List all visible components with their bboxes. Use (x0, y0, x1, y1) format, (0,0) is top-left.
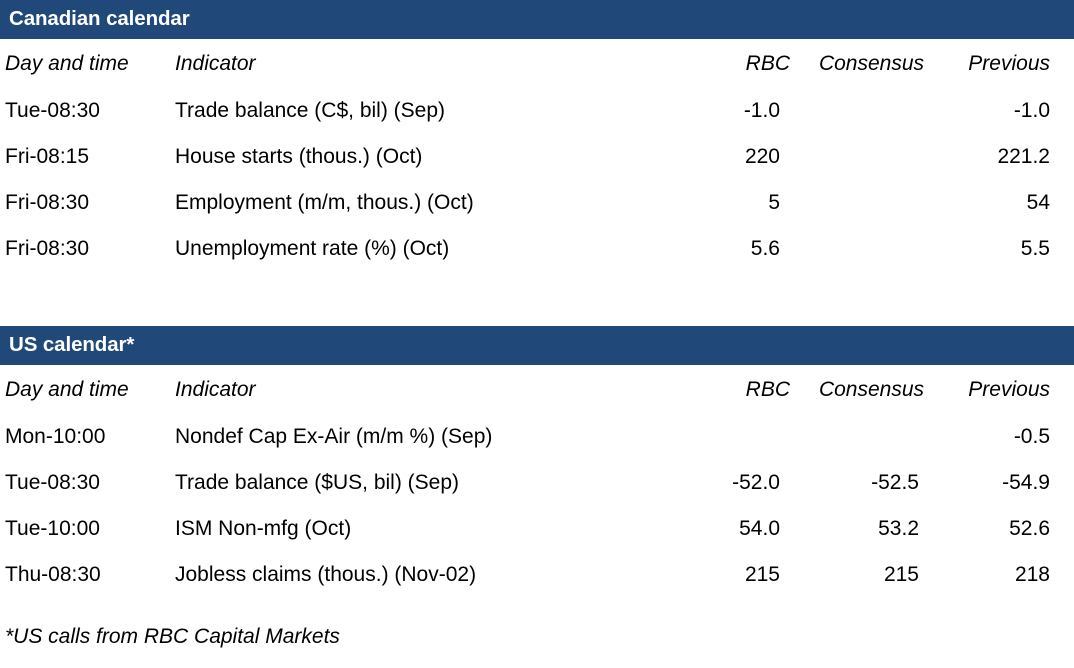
cell-consensus (815, 133, 949, 179)
cell-consensus: 53.2 (815, 505, 949, 551)
table-row: Tue-08:30 Trade balance ($US, bil) (Sep)… (0, 459, 1074, 505)
table-row: Thu-08:30 Jobless claims (thous.) (Nov-0… (0, 551, 1074, 597)
footnote-us-calls: *US calls from RBC Capital Markets (5, 626, 340, 647)
cell-consensus (815, 413, 949, 459)
cell-consensus (815, 179, 949, 225)
column-header-consensus: Consensus (815, 39, 949, 87)
canadian-calendar-header-row: Day and time Indicator RBC Consensus Pre… (0, 39, 1074, 87)
cell-consensus: -52.5 (815, 459, 949, 505)
us-calendar-section: US calendar* Day and time Indicator RBC … (0, 326, 1074, 597)
canadian-calendar-section: Canadian calendar Day and time Indicator… (0, 0, 1074, 271)
us-calendar-table: Day and time Indicator RBC Consensus Pre… (0, 365, 1074, 597)
cell-rbc: -1.0 (697, 87, 815, 133)
canadian-calendar-title-bar: Canadian calendar (0, 0, 1074, 39)
cell-previous: 221.2 (949, 133, 1074, 179)
cell-consensus (815, 225, 949, 271)
us-calendar-header-row: Day and time Indicator RBC Consensus Pre… (0, 365, 1074, 413)
cell-indicator: Trade balance ($US, bil) (Sep) (172, 459, 697, 505)
cell-indicator: Jobless claims (thous.) (Nov-02) (172, 551, 697, 597)
cell-day: Tue-08:30 (0, 87, 172, 133)
cell-indicator: Trade balance (C$, bil) (Sep) (172, 87, 697, 133)
column-header-indicator: Indicator (172, 39, 697, 87)
table-row: Fri-08:15 House starts (thous.) (Oct) 22… (0, 133, 1074, 179)
cell-rbc: 220 (697, 133, 815, 179)
column-header-rbc: RBC (697, 365, 815, 413)
canadian-calendar-table: Day and time Indicator RBC Consensus Pre… (0, 39, 1074, 271)
column-header-consensus: Consensus (815, 365, 949, 413)
cell-day: Fri-08:30 (0, 225, 172, 271)
cell-previous: -1.0 (949, 87, 1074, 133)
cell-previous: 54 (949, 179, 1074, 225)
cell-previous: -54.9 (949, 459, 1074, 505)
column-header-day: Day and time (0, 39, 172, 87)
canadian-calendar-title: Canadian calendar (9, 9, 190, 30)
us-calendar-title: US calendar* (9, 335, 134, 356)
cell-previous: 52.6 (949, 505, 1074, 551)
cell-consensus: 215 (815, 551, 949, 597)
cell-indicator: Nondef Cap Ex-Air (m/m %) (Sep) (172, 413, 697, 459)
table-row: Fri-08:30 Unemployment rate (%) (Oct) 5.… (0, 225, 1074, 271)
cell-indicator: House starts (thous.) (Oct) (172, 133, 697, 179)
cell-day: Thu-08:30 (0, 551, 172, 597)
cell-previous: -0.5 (949, 413, 1074, 459)
cell-day: Mon-10:00 (0, 413, 172, 459)
column-header-indicator: Indicator (172, 365, 697, 413)
us-calendar-title-bar: US calendar* (0, 326, 1074, 365)
table-row: Mon-10:00 Nondef Cap Ex-Air (m/m %) (Sep… (0, 413, 1074, 459)
table-row: Fri-08:30 Employment (m/m, thous.) (Oct)… (0, 179, 1074, 225)
cell-day: Tue-10:00 (0, 505, 172, 551)
cell-rbc: 54.0 (697, 505, 815, 551)
cell-day: Fri-08:30 (0, 179, 172, 225)
cell-rbc: 5.6 (697, 225, 815, 271)
table-row: Tue-10:00 ISM Non-mfg (Oct) 54.0 53.2 52… (0, 505, 1074, 551)
cell-previous: 5.5 (949, 225, 1074, 271)
column-header-day: Day and time (0, 365, 172, 413)
economic-calendar-page: Canadian calendar Day and time Indicator… (0, 0, 1074, 668)
cell-rbc: 5 (697, 179, 815, 225)
column-header-rbc: RBC (697, 39, 815, 87)
cell-indicator: ISM Non-mfg (Oct) (172, 505, 697, 551)
cell-day: Tue-08:30 (0, 459, 172, 505)
cell-consensus (815, 87, 949, 133)
table-row: Tue-08:30 Trade balance (C$, bil) (Sep) … (0, 87, 1074, 133)
cell-indicator: Unemployment rate (%) (Oct) (172, 225, 697, 271)
cell-rbc (697, 413, 815, 459)
cell-day: Fri-08:15 (0, 133, 172, 179)
cell-rbc: 215 (697, 551, 815, 597)
cell-indicator: Employment (m/m, thous.) (Oct) (172, 179, 697, 225)
cell-previous: 218 (949, 551, 1074, 597)
column-header-previous: Previous (949, 39, 1074, 87)
cell-rbc: -52.0 (697, 459, 815, 505)
column-header-previous: Previous (949, 365, 1074, 413)
